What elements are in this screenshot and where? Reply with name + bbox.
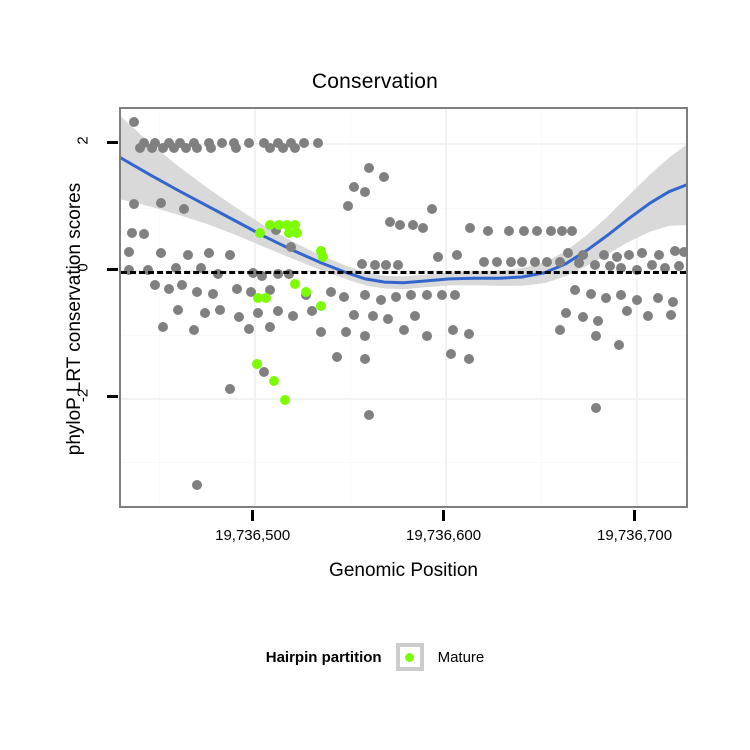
data-point-other [586, 289, 596, 299]
data-point-other [244, 138, 254, 148]
page-title: Conservation [0, 70, 750, 94]
x-tick-label: 19,736,700 [555, 527, 715, 544]
data-point-other [418, 223, 428, 233]
data-point-mature [252, 359, 262, 369]
data-point-other [464, 329, 474, 339]
data-point-other [422, 290, 432, 300]
data-point-other [179, 204, 189, 214]
legend-swatch-icon [405, 653, 414, 662]
data-point-other [647, 260, 657, 270]
data-point-other [506, 257, 516, 267]
data-point-other [164, 284, 174, 294]
data-point-other [189, 325, 199, 335]
data-point-other [200, 308, 210, 318]
data-point-other [349, 310, 359, 320]
x-tick-label: 19,736,600 [364, 527, 524, 544]
data-point-other [215, 305, 225, 315]
x-tick-mark [251, 510, 254, 521]
data-point-other [517, 257, 527, 267]
data-point-other [555, 325, 565, 335]
data-point-other [614, 340, 624, 350]
data-point-other [561, 308, 571, 318]
data-point-other [244, 324, 254, 334]
data-point-other [173, 305, 183, 315]
data-point-other [326, 287, 336, 297]
data-point-other [679, 247, 688, 257]
data-point-other [668, 297, 678, 307]
data-point-other [504, 226, 514, 236]
x-tick-label: 19,736,500 [173, 527, 333, 544]
data-point-other [422, 331, 432, 341]
y-tick-label: 2 [75, 121, 92, 161]
data-point-other [124, 247, 134, 257]
data-point-other [567, 226, 577, 236]
data-point-mature [301, 287, 311, 297]
legend-key-mature[interactable] [396, 643, 424, 671]
data-point-other [410, 311, 420, 321]
data-point-other [542, 257, 552, 267]
y-tick-mark [107, 141, 118, 144]
data-point-other [370, 260, 380, 270]
data-point-other [156, 198, 166, 208]
data-point-other [590, 260, 600, 270]
data-point-other [307, 306, 317, 316]
data-point-other [653, 293, 663, 303]
data-point-other [674, 261, 684, 271]
data-point-other [147, 143, 157, 153]
plot-area [121, 109, 686, 506]
data-point-other [399, 325, 409, 335]
data-point-other [299, 138, 309, 148]
data-point-other [217, 138, 227, 148]
data-point-other [208, 289, 218, 299]
data-point-other [332, 352, 342, 362]
y-tick-mark [107, 268, 118, 271]
x-tick-mark [633, 510, 636, 521]
data-point-other [643, 311, 653, 321]
data-point-mature [290, 279, 300, 289]
data-point-other [632, 295, 642, 305]
y-tick-label: -2 [75, 375, 92, 415]
x-axis-label: Genomic Position [119, 560, 688, 582]
data-point-other [368, 311, 378, 321]
legend-item-label: Mature [438, 649, 485, 666]
plot-panel [119, 107, 688, 508]
data-point-other [288, 311, 298, 321]
legend-title: Hairpin partition [266, 649, 382, 666]
y-axis-label: phyloP LRT conservation scores [64, 119, 86, 519]
data-point-other [225, 384, 235, 394]
data-point-other [670, 246, 680, 256]
data-point-other [192, 480, 202, 490]
data-point-other [483, 226, 493, 236]
data-point-mature [292, 228, 302, 238]
data-point-other [622, 306, 632, 316]
data-point-other [364, 410, 374, 420]
data-point-other [391, 292, 401, 302]
data-point-other [555, 257, 565, 267]
data-point-mature [269, 376, 279, 386]
y-tick-label: 0 [75, 248, 92, 288]
data-point-other [479, 257, 489, 267]
data-point-other [393, 260, 403, 270]
data-point-other [464, 354, 474, 364]
data-point-other [286, 242, 296, 252]
zero-reference-line [121, 271, 686, 274]
data-point-other [601, 293, 611, 303]
data-point-other [273, 306, 283, 316]
chart-root: Conservation phyloP LRT conservation sco… [0, 0, 750, 750]
data-point-other [313, 138, 323, 148]
data-point-other [376, 295, 386, 305]
data-point-other [605, 261, 615, 271]
y-tick-mark [107, 395, 118, 398]
data-point-other [666, 310, 676, 320]
data-point-other [357, 259, 367, 269]
data-point-other [349, 182, 359, 192]
data-point-other [385, 217, 395, 227]
legend: Hairpin partition Mature [0, 643, 750, 671]
data-point-other [492, 257, 502, 267]
data-point-other [433, 252, 443, 262]
data-point-other [546, 226, 556, 236]
x-tick-mark [442, 510, 445, 521]
